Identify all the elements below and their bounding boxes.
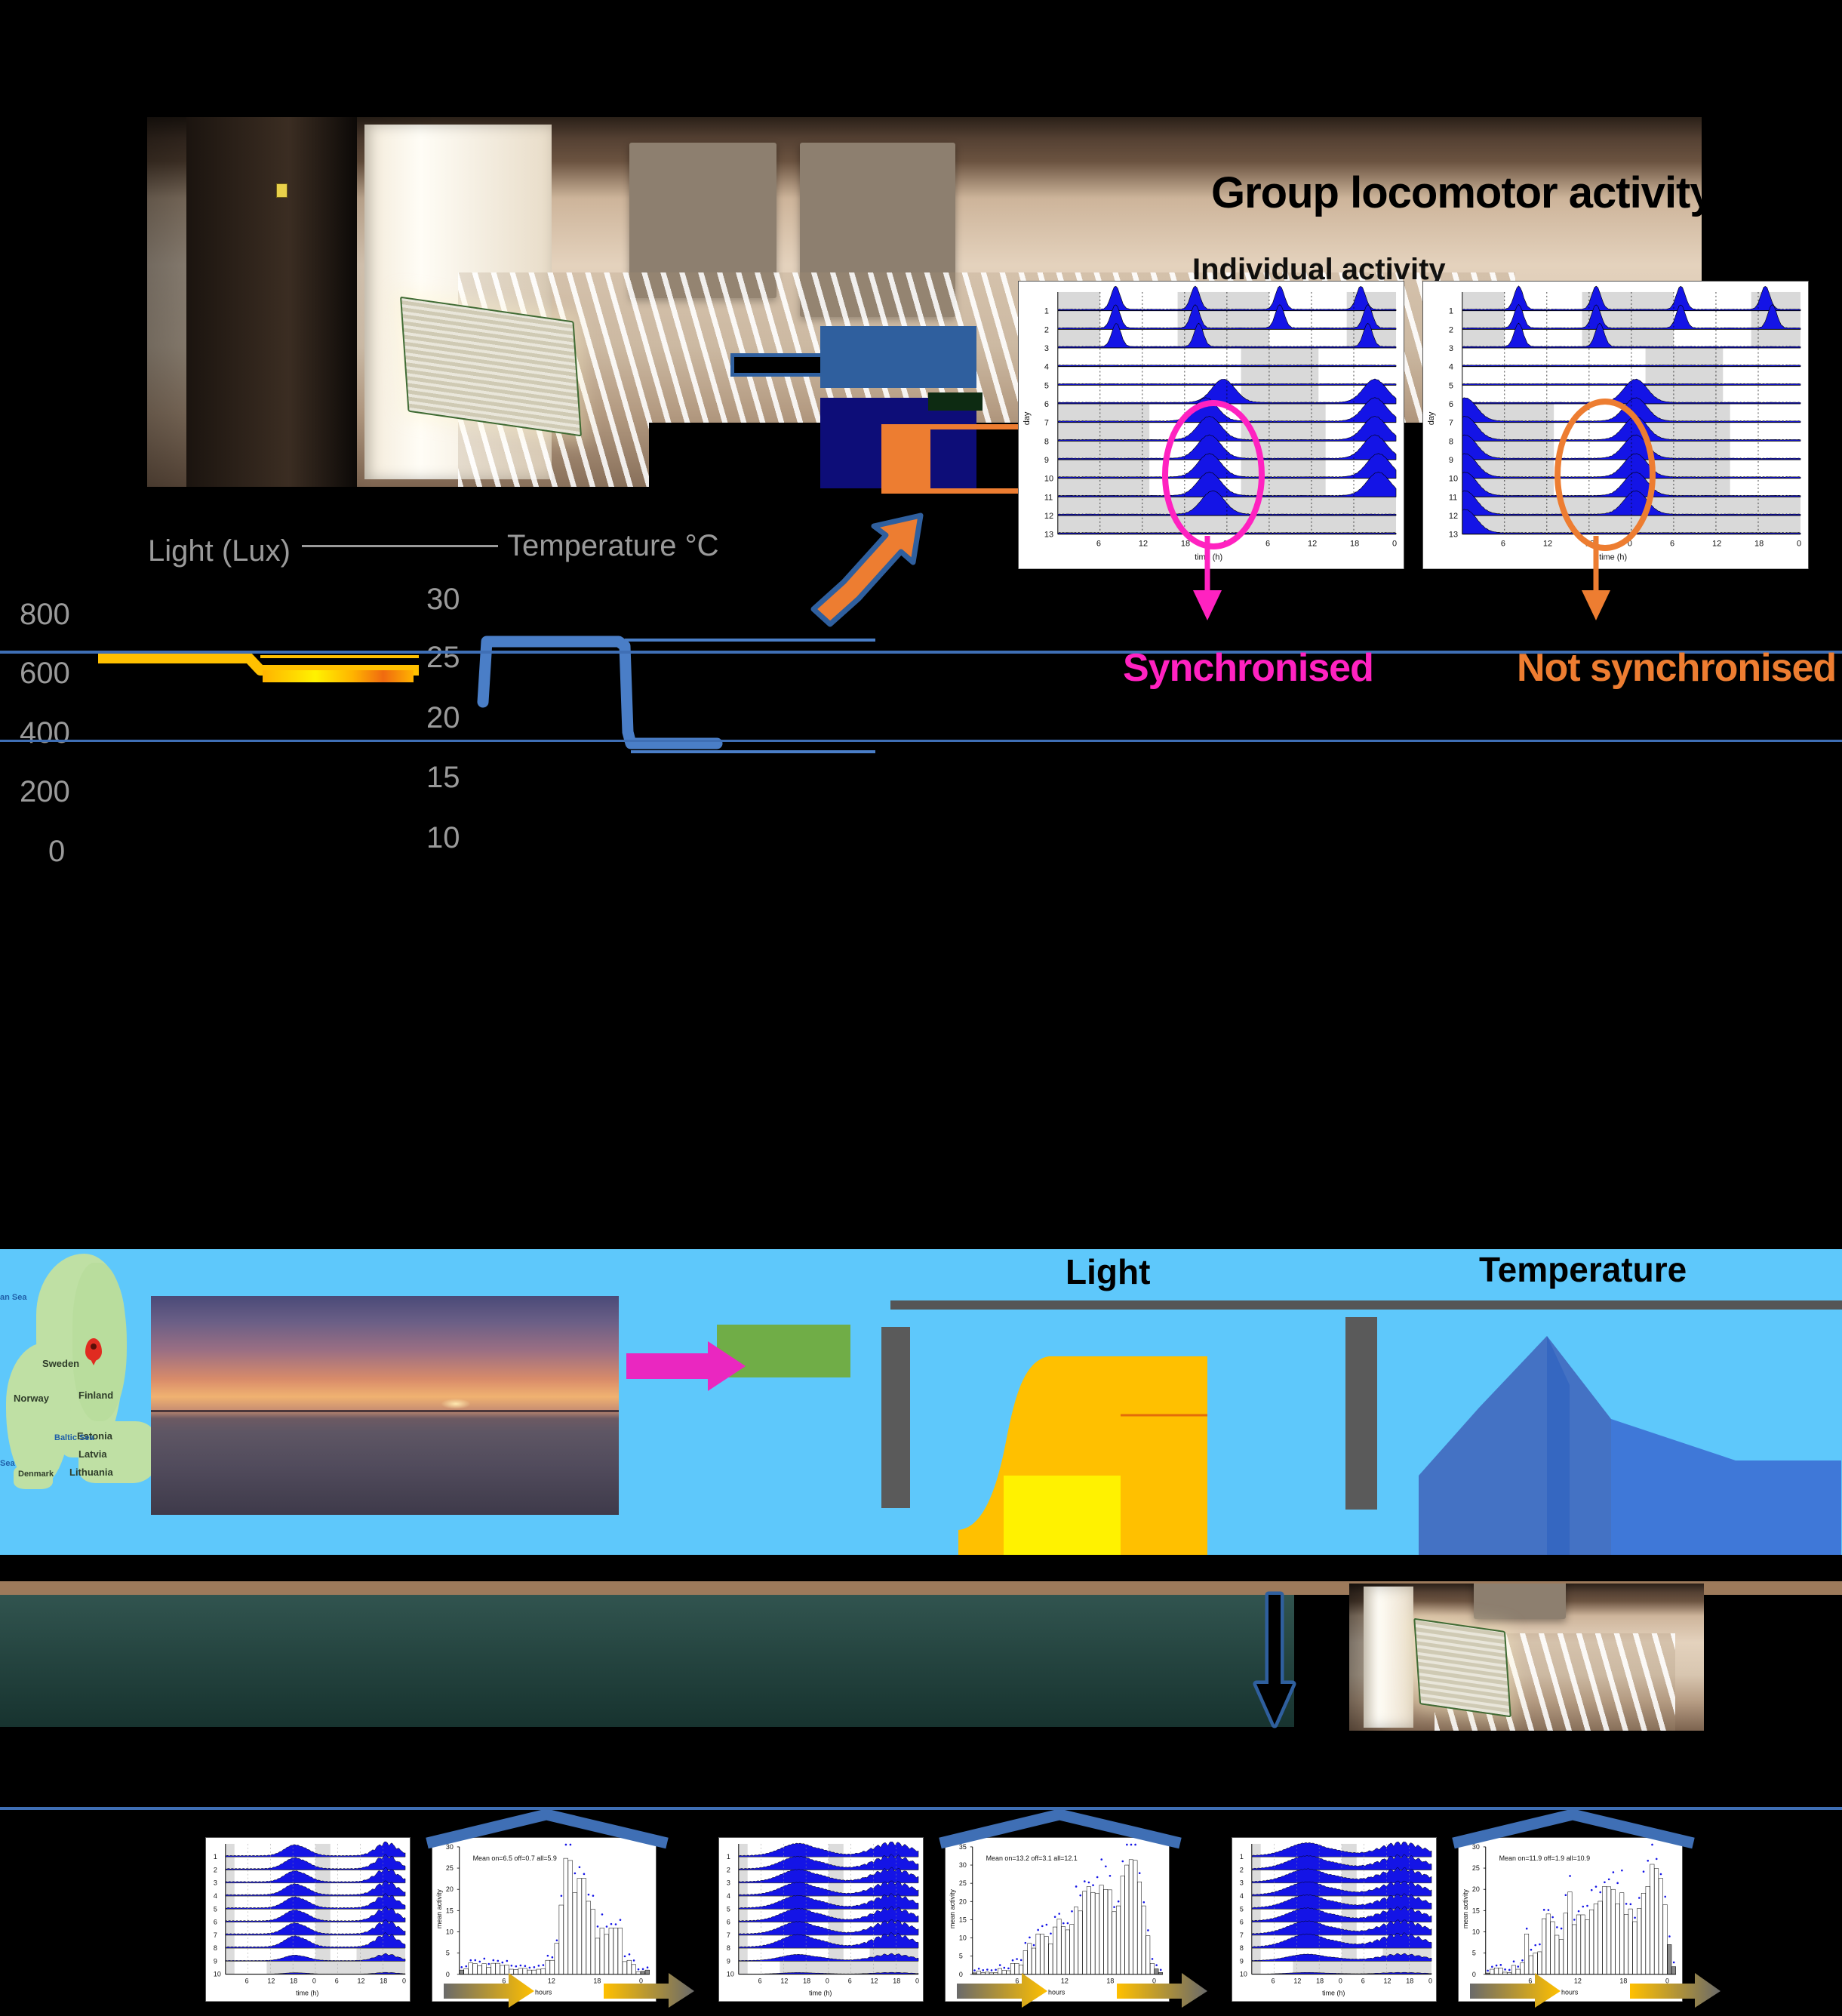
svg-text:12: 12 [1712, 540, 1721, 549]
svg-text:hours: hours [1561, 1989, 1579, 1996]
arrow-down-orange [1577, 536, 1615, 626]
svg-text:18: 18 [893, 1978, 900, 1985]
svg-text:18: 18 [1106, 1978, 1114, 1985]
svg-text:18: 18 [593, 1978, 601, 1985]
light-series-line [91, 634, 430, 694]
svg-text:20: 20 [1472, 1885, 1480, 1893]
midnight-sun-photo [151, 1296, 619, 1515]
svg-text:7: 7 [727, 1931, 730, 1939]
svg-text:11: 11 [1449, 493, 1457, 502]
temperature-axis-title: Temperature °C [507, 529, 719, 563]
svg-text:12: 12 [548, 1978, 555, 1985]
svg-text:18: 18 [1350, 540, 1359, 549]
svg-text:6: 6 [1240, 1919, 1244, 1926]
svg-text:10: 10 [1472, 1928, 1480, 1935]
light-tick-800: 800 [20, 598, 70, 632]
map-label-lithuania: Lithuania [69, 1467, 113, 1478]
svg-text:hours: hours [535, 1989, 552, 1996]
svg-text:4: 4 [1449, 363, 1453, 372]
svg-text:25: 25 [1472, 1864, 1480, 1872]
svg-text:8: 8 [1240, 1944, 1244, 1952]
svg-text:12: 12 [1543, 540, 1552, 549]
svg-text:1: 1 [727, 1853, 730, 1861]
svg-text:mean activity: mean activity [435, 1889, 443, 1929]
field-light-header: Light [1066, 1251, 1150, 1292]
svg-text:10: 10 [959, 1934, 967, 1942]
arrow-right-magenta [626, 1340, 747, 1393]
svg-text:Mean on=13.2 off=3.1 all=12.1: Mean on=13.2 off=3.1 all=12.1 [986, 1854, 1078, 1862]
svg-text:4: 4 [1044, 363, 1049, 372]
svg-text:20: 20 [959, 1898, 967, 1905]
field-light-axis-stub [881, 1327, 910, 1508]
svg-text:7: 7 [214, 1931, 217, 1939]
svg-text:30: 30 [959, 1861, 967, 1869]
incubator-door [186, 117, 358, 487]
svg-text:time (h): time (h) [296, 1989, 318, 1996]
light-axis-title: Light (Lux) [148, 534, 291, 568]
orange-bracket-highlight [881, 424, 1023, 494]
svg-text:6: 6 [1501, 540, 1505, 549]
svg-text:Mean on=11.9 off=1.9 all=10.9: Mean on=11.9 off=1.9 all=10.9 [1499, 1854, 1590, 1862]
svg-text:6: 6 [1361, 1978, 1365, 1985]
svg-text:10: 10 [1044, 475, 1053, 484]
label-not-synchronised: Not synchronised [1517, 645, 1836, 691]
dawn-arrow-3 [1470, 1973, 1562, 2009]
svg-text:0: 0 [312, 1978, 316, 1985]
svg-text:2: 2 [214, 1866, 217, 1873]
map-label-finland: Finland [78, 1390, 113, 1401]
svg-text:1: 1 [214, 1853, 217, 1861]
svg-text:4: 4 [727, 1892, 730, 1900]
svg-text:20: 20 [446, 1885, 454, 1893]
svg-text:15: 15 [1472, 1907, 1480, 1914]
svg-text:2: 2 [1044, 325, 1049, 334]
light-tick-0: 0 [48, 835, 65, 869]
svg-text:5: 5 [1449, 381, 1453, 390]
light-tick-200: 200 [20, 775, 70, 809]
bottom-actogram-1-chart: 12345678910612180612180time (h) [206, 1838, 410, 2001]
svg-text:18: 18 [1406, 1978, 1413, 1985]
svg-text:12: 12 [1293, 1978, 1301, 1985]
svg-text:10: 10 [727, 1971, 734, 1978]
svg-text:2: 2 [1240, 1866, 1244, 1873]
svg-text:day: day [1022, 411, 1032, 425]
svg-text:25: 25 [959, 1879, 967, 1887]
temp-tick-25: 25 [426, 641, 460, 675]
svg-text:8: 8 [727, 1944, 730, 1952]
svg-text:5: 5 [1240, 1905, 1244, 1913]
svg-text:12: 12 [1384, 1978, 1391, 1985]
light-tick-400: 400 [20, 716, 70, 750]
svg-text:Mean on=6.5 off=0.7 all=5.9: Mean on=6.5 off=0.7 all=5.9 [473, 1854, 557, 1862]
warning-sticker-icon [276, 183, 288, 198]
bottom-actogram-3: 12345678910612180612180time (h) [1232, 1837, 1437, 2002]
svg-text:12: 12 [358, 1978, 365, 1985]
svg-text:6: 6 [1044, 400, 1049, 409]
svg-text:15: 15 [959, 1916, 967, 1923]
field-temperature-header: Temperature [1479, 1249, 1687, 1290]
svg-text:9: 9 [1240, 1957, 1244, 1965]
svg-text:0: 0 [1797, 540, 1801, 549]
svg-text:6: 6 [335, 1978, 339, 1985]
svg-text:time (h): time (h) [1322, 1989, 1345, 1996]
field-light-profile-chart [958, 1317, 1343, 1555]
led-light-board-2 [1413, 1617, 1511, 1717]
svg-text:7: 7 [1044, 419, 1049, 428]
temp-tick-30: 30 [426, 583, 460, 617]
map-label-baltic-sea: Baltic Sea [54, 1433, 94, 1442]
svg-text:6: 6 [758, 1978, 762, 1985]
svg-text:0: 0 [915, 1978, 919, 1985]
map-label-north-sea: an Sea [0, 1293, 26, 1302]
page-title: Group locomotor activity [1211, 168, 1714, 218]
svg-text:12: 12 [1449, 512, 1458, 521]
dusk-arrow-2 [1117, 1973, 1209, 2009]
svg-text:7: 7 [1240, 1931, 1244, 1939]
teal-content-band [0, 1595, 1294, 1727]
svg-text:13: 13 [1449, 531, 1458, 540]
svg-text:9: 9 [1449, 456, 1453, 465]
svg-text:8: 8 [214, 1944, 217, 1952]
svg-text:7: 7 [1449, 419, 1453, 428]
svg-text:12: 12 [780, 1978, 788, 1985]
brace-group-1 [423, 1810, 672, 1845]
bottom-panel-group-1: 12345678910612180612180time (h) 05101520… [205, 1837, 657, 2016]
svg-text:12: 12 [1061, 1978, 1069, 1985]
svg-text:6: 6 [1272, 1978, 1275, 1985]
svg-text:18: 18 [380, 1978, 387, 1985]
svg-text:3: 3 [727, 1879, 730, 1887]
svg-text:18: 18 [1316, 1978, 1324, 1985]
svg-text:8: 8 [1449, 437, 1453, 446]
svg-text:1: 1 [1449, 307, 1453, 316]
map-label-norway: Norway [14, 1393, 49, 1404]
incubator-photo-bottom [1349, 1584, 1704, 1731]
bottom-panel-group-3: 12345678910612180612180time (h) 05101520… [1232, 1837, 1683, 2016]
divider-line-mid [0, 740, 1842, 742]
sun-glow-icon [441, 1399, 471, 1409]
svg-text:mean activity: mean activity [1462, 1889, 1469, 1929]
svg-text:18: 18 [290, 1978, 297, 1985]
svg-text:12: 12 [1139, 540, 1148, 549]
svg-text:6: 6 [1096, 540, 1101, 549]
bottom-panel-group-2: 12345678910612180612180time (h) 05101520… [718, 1837, 1170, 2016]
dawn-arrow-1 [444, 1973, 536, 2009]
temp-tick-20: 20 [426, 701, 460, 735]
svg-text:18: 18 [803, 1978, 810, 1985]
svg-text:10: 10 [1240, 1971, 1247, 1978]
bottom-actogram-3-chart: 12345678910612180612180time (h) [1232, 1838, 1436, 2001]
field-temp-axis-stub [1345, 1317, 1377, 1510]
light-temperature-chart: Light (Lux) Temperature °C 800 600 400 2… [0, 498, 875, 883]
map-label-denmark: Denmark [18, 1470, 54, 1479]
svg-text:12: 12 [871, 1978, 878, 1985]
svg-text:5: 5 [1472, 1950, 1476, 1957]
svg-text:2: 2 [727, 1866, 730, 1873]
photo-horizon-line [151, 1410, 619, 1412]
svg-text:9: 9 [1044, 456, 1049, 465]
bottom-actogram-2: 12345678910612180612180time (h) [718, 1837, 924, 2002]
svg-text:6: 6 [1670, 540, 1674, 549]
svg-text:time (h): time (h) [809, 1989, 832, 1996]
svg-text:11: 11 [1044, 493, 1053, 502]
svg-text:18: 18 [1754, 540, 1764, 549]
svg-text:4: 4 [214, 1892, 217, 1900]
svg-text:12: 12 [1044, 512, 1053, 521]
svg-text:9: 9 [214, 1957, 217, 1965]
light-tick-600: 600 [20, 657, 70, 691]
svg-text:3: 3 [1044, 344, 1049, 353]
svg-text:2: 2 [1449, 325, 1453, 334]
svg-text:0: 0 [1392, 540, 1397, 549]
svg-text:5: 5 [727, 1905, 730, 1913]
arrow-down-magenta [1189, 536, 1226, 626]
svg-text:6: 6 [727, 1919, 730, 1926]
svg-text:25: 25 [446, 1864, 454, 1872]
axis-title-connector-line [302, 545, 498, 547]
brace-group-2 [936, 1810, 1185, 1845]
actogram-not-synchronised-ellipse [1554, 399, 1656, 551]
arrow-down-black-blue [1250, 1595, 1299, 1731]
svg-text:3: 3 [1240, 1879, 1244, 1887]
svg-text:day: day [1427, 411, 1436, 425]
temp-tick-15: 15 [426, 761, 460, 795]
svg-text:10: 10 [214, 1971, 221, 1978]
svg-text:10: 10 [446, 1928, 454, 1935]
incubator-shelf-pad-top [1474, 1584, 1566, 1619]
callout-box-blue [820, 326, 976, 388]
svg-text:12: 12 [1574, 1978, 1582, 1985]
map-label-sea: Sea [0, 1459, 15, 1468]
svg-text:5: 5 [1044, 381, 1049, 390]
svg-text:12: 12 [267, 1978, 275, 1985]
svg-text:0: 0 [402, 1978, 406, 1985]
actogram-synchronised-ellipse [1162, 400, 1265, 549]
svg-text:13: 13 [1044, 531, 1053, 540]
svg-text:9: 9 [727, 1957, 730, 1965]
bottom-actogram-1: 12345678910612180612180time (h) [205, 1837, 411, 2002]
map-label-latvia: Latvia [78, 1448, 107, 1460]
svg-text:6: 6 [245, 1978, 249, 1985]
dusk-arrow-3 [1630, 1973, 1722, 2009]
study-site-pin-icon [85, 1338, 102, 1361]
svg-text:12: 12 [1308, 540, 1317, 549]
svg-text:3: 3 [214, 1879, 217, 1887]
svg-text:4: 4 [1240, 1892, 1244, 1900]
incubator-inner-wall-2 [1364, 1587, 1413, 1728]
bottom-actogram-2-chart: 12345678910612180612180time (h) [719, 1838, 923, 2001]
svg-text:6: 6 [214, 1919, 217, 1926]
svg-text:0: 0 [826, 1978, 829, 1985]
svg-text:10: 10 [1449, 475, 1458, 484]
svg-text:5: 5 [959, 1953, 963, 1960]
dusk-arrow-1 [604, 1973, 696, 2009]
svg-text:5: 5 [214, 1905, 217, 1913]
svg-text:6: 6 [1265, 540, 1270, 549]
temp-tick-10: 10 [426, 821, 460, 855]
map-label-sweden: Sweden [42, 1358, 79, 1369]
svg-text:1: 1 [1044, 307, 1049, 316]
brace-group-3 [1449, 1810, 1698, 1845]
svg-text:mean activity: mean activity [949, 1889, 956, 1929]
callout-box-green [928, 392, 983, 411]
dawn-arrow-2 [957, 1973, 1049, 2009]
svg-text:6: 6 [1449, 400, 1453, 409]
svg-text:6: 6 [848, 1978, 852, 1985]
svg-text:15: 15 [446, 1907, 454, 1914]
field-temperature-profile-chart [1419, 1306, 1841, 1555]
svg-text:18: 18 [1619, 1978, 1627, 1985]
svg-text:0: 0 [1339, 1978, 1342, 1985]
label-synchronised: Synchronised [1123, 645, 1373, 691]
svg-text:5: 5 [446, 1950, 450, 1957]
svg-text:3: 3 [1449, 344, 1453, 353]
svg-text:8: 8 [1044, 437, 1049, 446]
svg-text:0: 0 [1428, 1978, 1432, 1985]
svg-text:1: 1 [1240, 1853, 1244, 1861]
svg-text:hours: hours [1048, 1989, 1066, 1996]
